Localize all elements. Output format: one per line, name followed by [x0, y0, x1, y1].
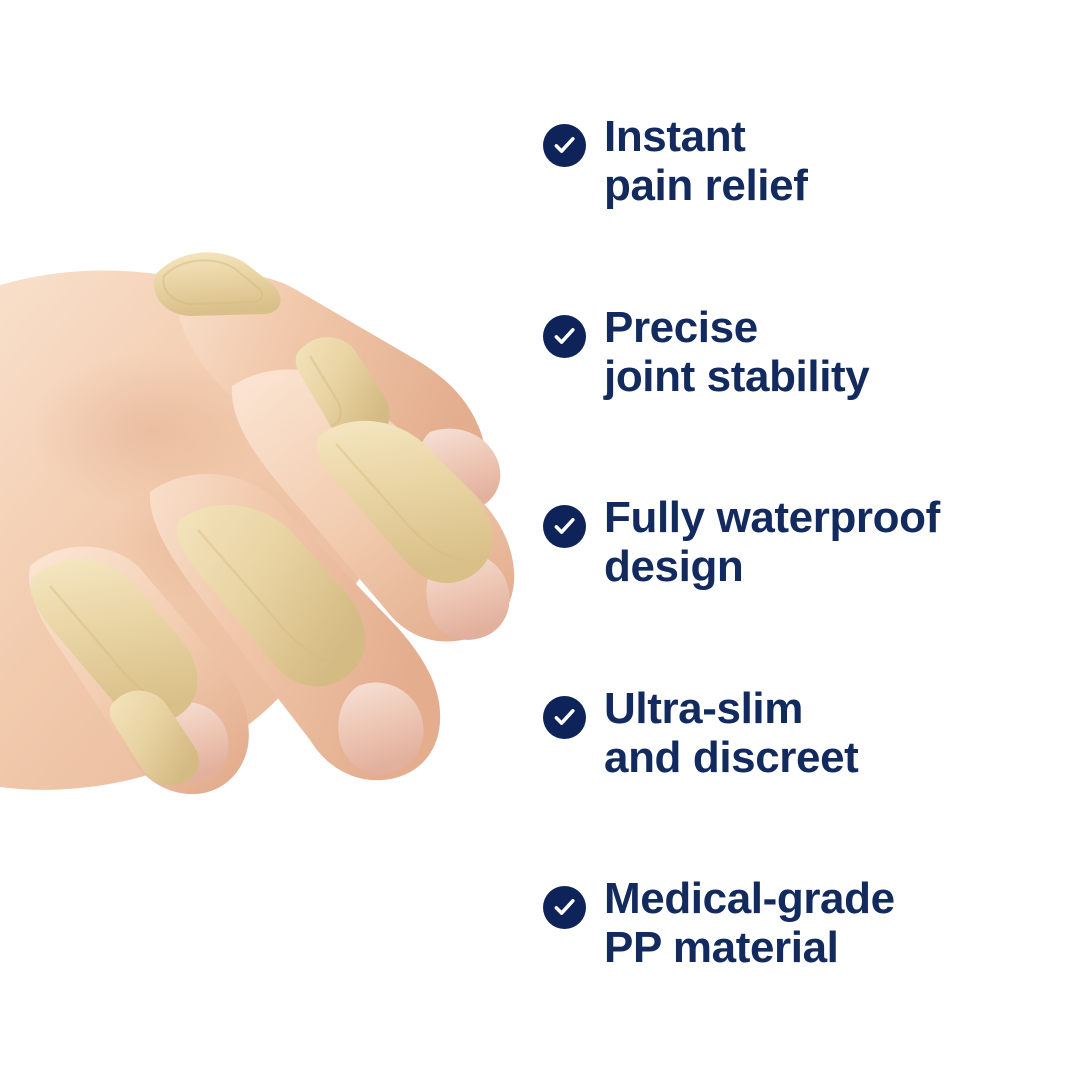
check-circle-icon [543, 696, 586, 739]
feature-label: Medical-grade PP material [604, 874, 895, 972]
feature-label: Ultra-slim and discreet [604, 684, 858, 782]
feature-item-medical-grade-pp-material: Medical-grade PP material [540, 874, 1080, 972]
check-circle-icon [543, 505, 586, 548]
feature-item-instant-pain-relief: Instant pain relief [540, 112, 1080, 210]
feature-label: Precise joint stability [604, 303, 869, 401]
feature-item-precise-joint-stability: Precise joint stability [540, 303, 1080, 401]
check-circle-icon [543, 315, 586, 358]
feature-label: Fully waterproof design [604, 493, 940, 591]
feature-label: Instant pain relief [604, 112, 807, 210]
product-feature-card: Instant pain relief Precise joint stabil… [0, 0, 1080, 1080]
feature-list: Instant pain relief Precise joint stabil… [540, 0, 1080, 1080]
check-circle-icon [543, 124, 586, 167]
feature-item-ultra-slim-and-discreet: Ultra-slim and discreet [540, 684, 1080, 782]
check-circle-icon [543, 886, 586, 929]
feature-item-fully-waterproof-design: Fully waterproof design [540, 493, 1080, 591]
product-hand-image [0, 0, 560, 1080]
